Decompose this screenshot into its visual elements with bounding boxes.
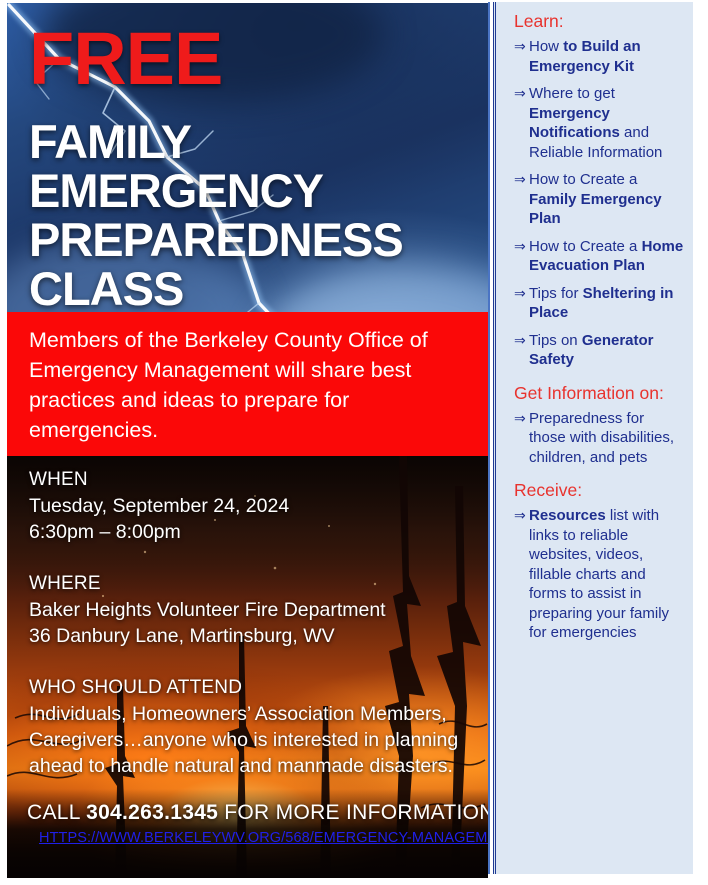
- sidebar-item-label: How to Create a Home Evacuation Plan: [529, 237, 684, 276]
- sidebar-content: Learn:⇒How to Build an Emergency Kit⇒Whe…: [496, 2, 693, 643]
- who-line-2: Caregivers…anyone who is interested in p…: [29, 727, 476, 753]
- sidebar-list-item: ⇒Preparedness for those with disabilitie…: [514, 409, 684, 468]
- where-label: WHERE: [29, 571, 476, 597]
- headline-line-1: FAMILY: [29, 117, 478, 166]
- spacer-when-where: [29, 545, 476, 571]
- call-prefix: CALL: [27, 801, 86, 824]
- topics-sidebar: Learn:⇒How to Build an Emergency Kit⇒Whe…: [493, 2, 693, 874]
- who-line-1: Individuals, Homeowners’ Association Mem…: [29, 701, 476, 727]
- headline-line-4: CLASS: [29, 264, 478, 313]
- sidebar-section-heading: Learn:: [514, 11, 684, 32]
- sidebar-item-label: Resources list with links to reliable we…: [529, 506, 684, 643]
- sidebar-section-heading: Get Information on:: [514, 383, 684, 404]
- sidebar-item-label: How to Create a Family Emergency Plan: [529, 170, 684, 229]
- flyer-page: FREE FAMILY EMERGENCY PREPAREDNESS CLASS…: [0, 0, 708, 885]
- sidebar-item-label: How to Build an Emergency Kit: [529, 37, 684, 76]
- sidebar-accent-rule: [488, 2, 490, 874]
- sidebar-list-item: ⇒Tips for Sheltering in Place: [514, 284, 684, 323]
- call-for-info-line: CALL 304.263.1345 FOR MORE INFORMATION: [27, 801, 488, 825]
- spacer-where-who: [29, 649, 476, 675]
- sidebar-list-item: ⇒How to Build an Emergency Kit: [514, 37, 684, 76]
- where-address: 36 Danbury Lane, Martinsburg, WV: [29, 623, 476, 649]
- headline-line-3: PREPAREDNESS: [29, 215, 478, 264]
- event-flyer: FREE FAMILY EMERGENCY PREPAREDNESS CLASS…: [7, 3, 488, 878]
- sidebar-section-heading: Receive:: [514, 480, 684, 501]
- sidebar-list-item: ⇒How to Create a Home Evacuation Plan: [514, 237, 684, 276]
- sidebar-item-label: Where to get Emergency Notifications and…: [529, 84, 684, 162]
- sidebar-item-label: Preparedness for those with disabilities…: [529, 409, 684, 468]
- website-url-link[interactable]: HTTPS://WWW.BERKELEYWV.ORG/568/EMERGENCY…: [39, 830, 488, 846]
- phone-number: 304.263.1345: [86, 801, 218, 824]
- who-line-3: ahead to handle natural and manmade disa…: [29, 753, 476, 779]
- double-arrow-bullet-icon: ⇒: [514, 331, 529, 370]
- hero-text-block: FREE FAMILY EMERGENCY PREPAREDNESS CLASS: [29, 3, 478, 313]
- when-label: WHEN: [29, 467, 476, 493]
- sidebar-list-item: ⇒Tips on Generator Safety: [514, 331, 684, 370]
- double-arrow-bullet-icon: ⇒: [514, 409, 529, 468]
- call-suffix: FOR MORE INFORMATION: [218, 801, 488, 824]
- wildfire-image: WHEN Tuesday, September 24, 2024 6:30pm …: [7, 456, 488, 878]
- double-arrow-bullet-icon: ⇒: [514, 237, 529, 276]
- sidebar-list-item: ⇒Resources list with links to reliable w…: [514, 506, 684, 643]
- double-arrow-bullet-icon: ⇒: [514, 84, 529, 162]
- when-time: 6:30pm – 8:00pm: [29, 519, 476, 545]
- event-details: WHEN Tuesday, September 24, 2024 6:30pm …: [29, 467, 476, 779]
- flyer-headline: FAMILY EMERGENCY PREPAREDNESS CLASS: [29, 117, 478, 313]
- free-label: FREE: [29, 17, 478, 101]
- sidebar-item-label: Tips for Sheltering in Place: [529, 284, 684, 323]
- description-band: Members of the Berkeley County Office of…: [7, 312, 488, 456]
- headline-line-2: EMERGENCY: [29, 166, 478, 215]
- double-arrow-bullet-icon: ⇒: [514, 37, 529, 76]
- sidebar-item-label: Tips on Generator Safety: [529, 331, 684, 370]
- double-arrow-bullet-icon: ⇒: [514, 170, 529, 229]
- where-venue: Baker Heights Volunteer Fire Department: [29, 597, 476, 623]
- double-arrow-bullet-icon: ⇒: [514, 506, 529, 643]
- who-label: WHO SHOULD ATTEND: [29, 675, 476, 701]
- sidebar-list-item: ⇒How to Create a Family Emergency Plan: [514, 170, 684, 229]
- double-arrow-bullet-icon: ⇒: [514, 284, 529, 323]
- sidebar-list-item: ⇒Where to get Emergency Notifications an…: [514, 84, 684, 162]
- when-date: Tuesday, September 24, 2024: [29, 493, 476, 519]
